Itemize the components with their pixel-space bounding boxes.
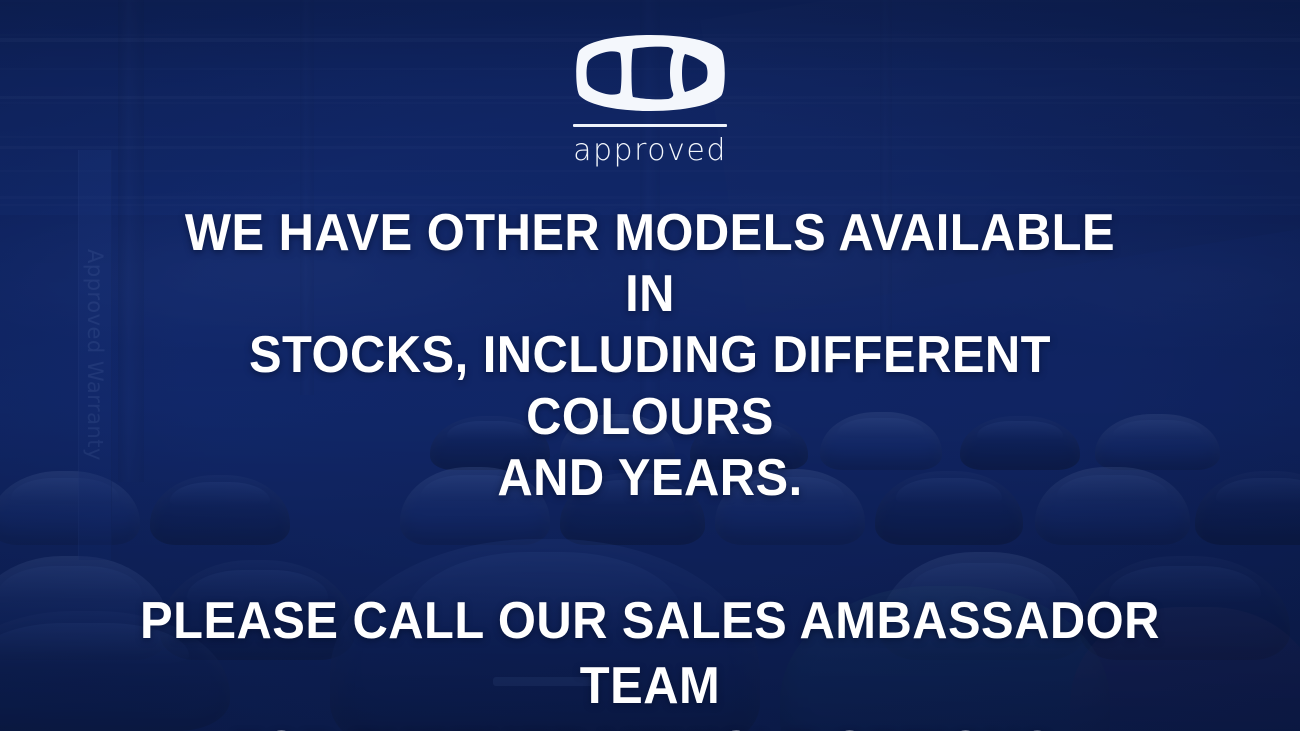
promo-slide: Approved Warranty approved WE HAVE OTHER…: [0, 0, 1300, 731]
approved-wordmark: approved: [573, 135, 727, 167]
headline-line-2: STOCKS, INCLUDING DIFFERENT COLOURS: [180, 325, 1120, 448]
headline-line-1: WE HAVE OTHER MODELS AVAILABLE IN: [180, 203, 1120, 326]
slide-content: approved WE HAVE OTHER MODELS AVAILABLE …: [0, 0, 1300, 731]
logo-divider: [573, 124, 727, 127]
subline-line-2: FOR FURTHER VEHICLE OPTIONS.: [119, 718, 1181, 731]
subline-line-1: PLEASE CALL OUR SALES AMBASSADOR TEAM: [119, 589, 1181, 718]
headline-line-3: AND YEARS.: [180, 448, 1120, 509]
headline-block: WE HAVE OTHER MODELS AVAILABLE IN STOCKS…: [180, 203, 1120, 510]
subline-block: PLEASE CALL OUR SALES AMBASSADOR TEAM FO…: [119, 589, 1181, 731]
car-top-view-icon: [573, 32, 728, 114]
approved-logo: approved: [573, 32, 728, 167]
